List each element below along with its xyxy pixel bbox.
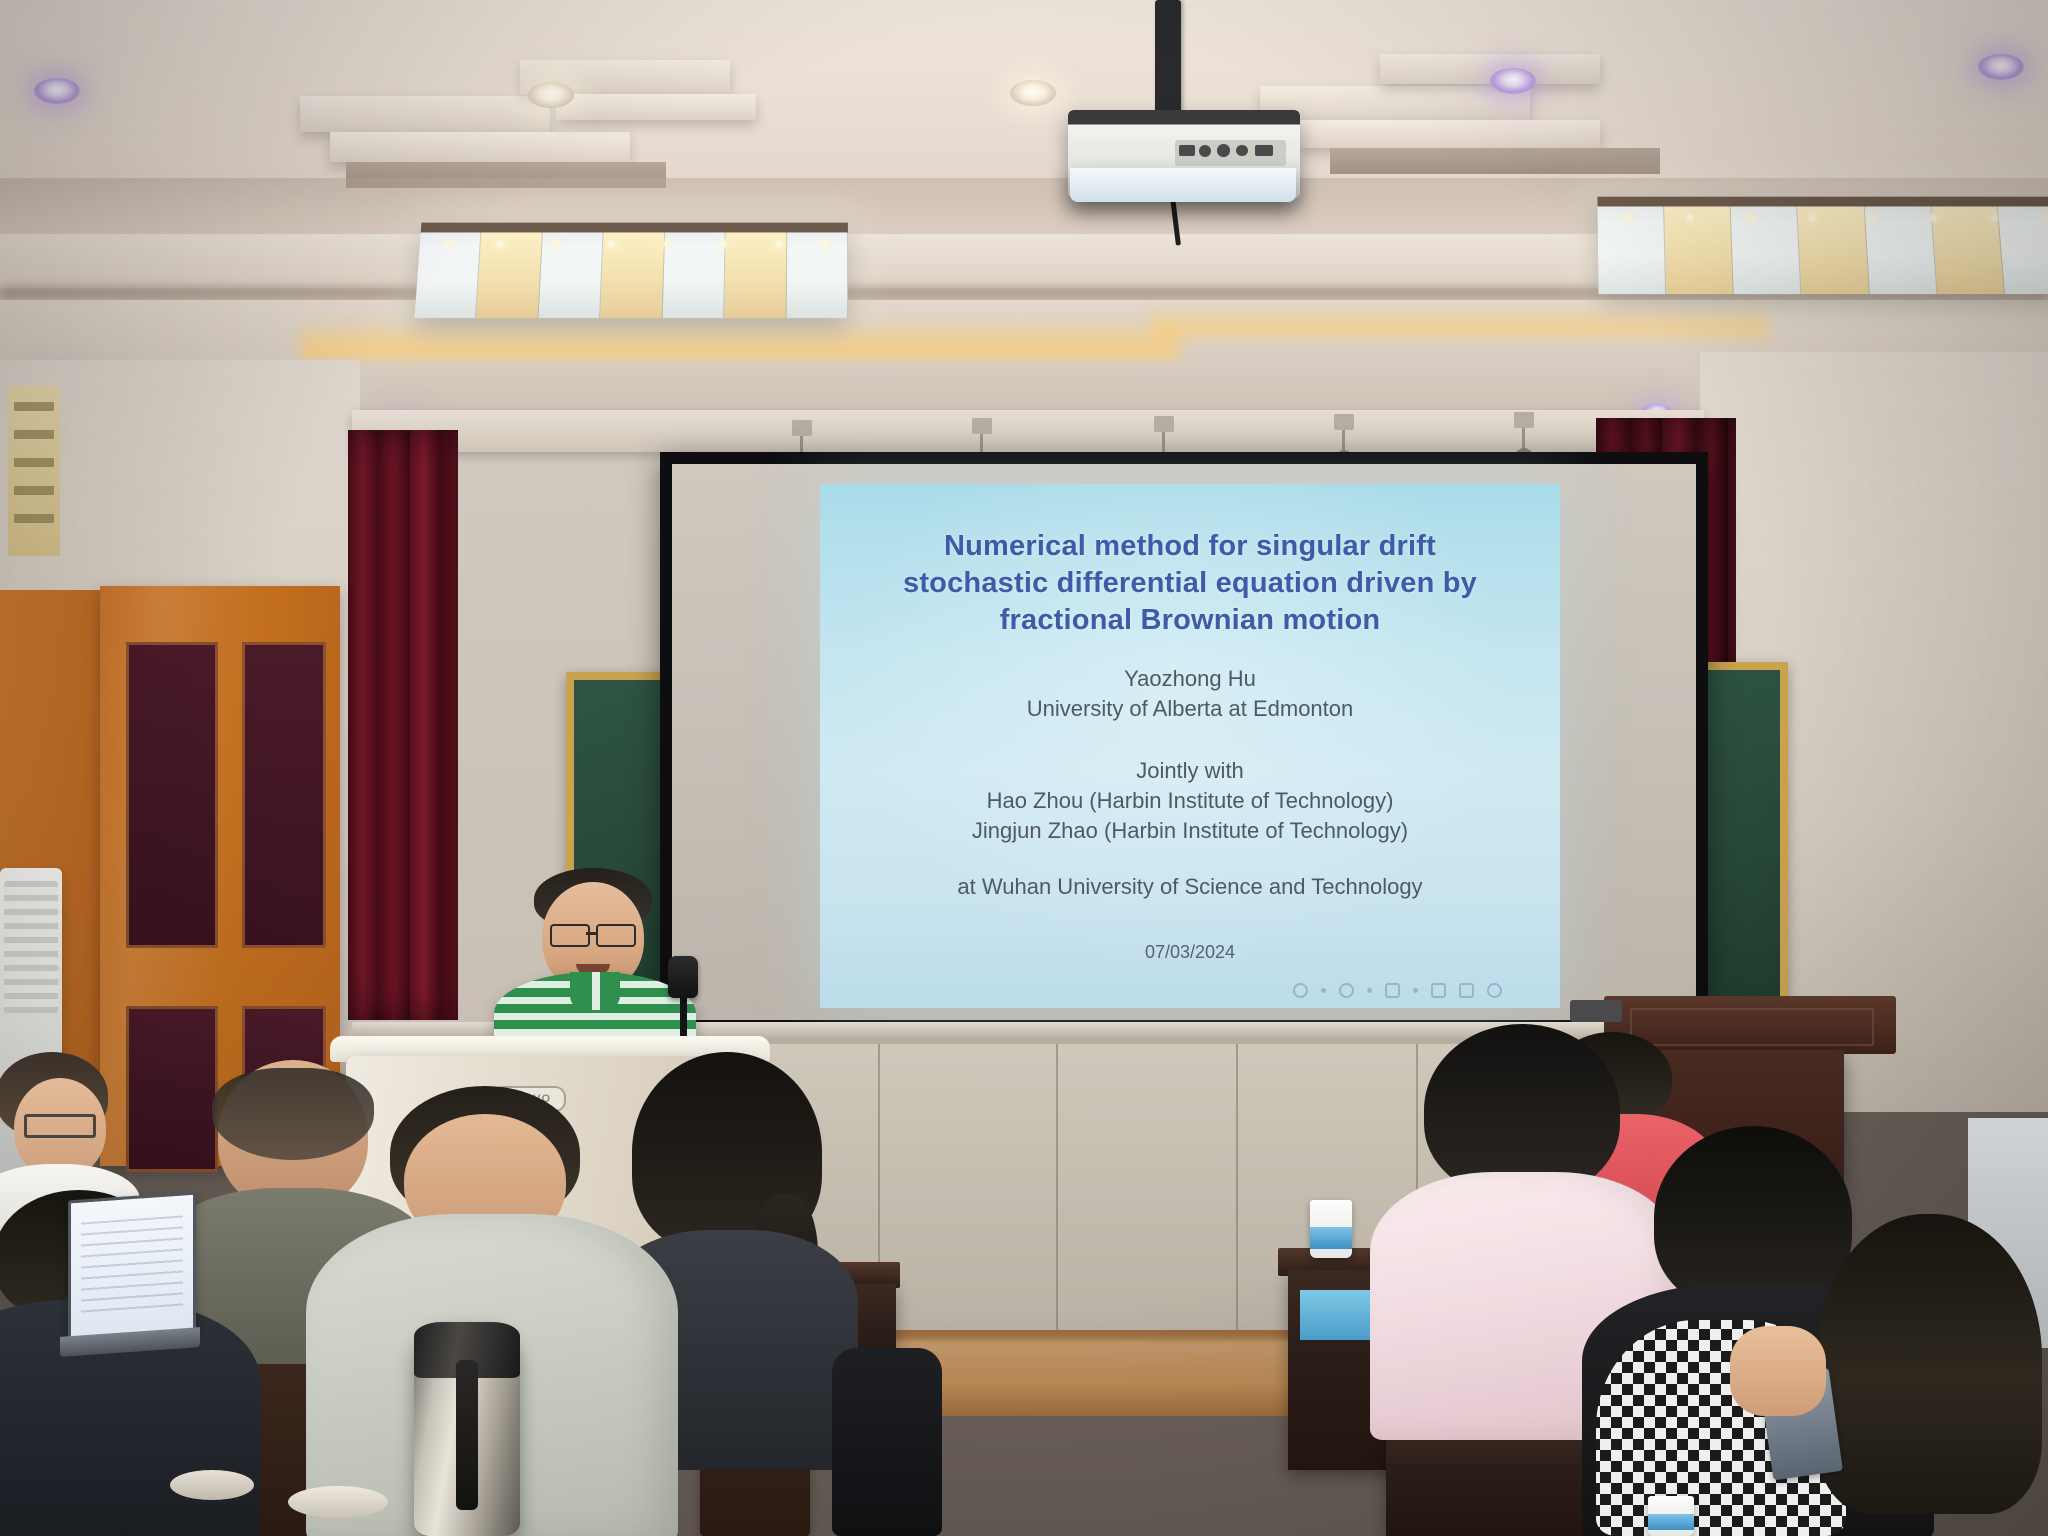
cup-label-band <box>1310 1227 1352 1249</box>
slide-author-affiliation: University of Alberta at Edmonton <box>820 694 1560 724</box>
paper-cup <box>1310 1200 1352 1258</box>
screen-rod-bracket <box>1154 416 1174 432</box>
projector-port-cluster <box>1175 140 1286 166</box>
downlight <box>1978 54 2024 80</box>
stage-curtain-left <box>348 430 458 1020</box>
projector-body-lower <box>1070 168 1296 202</box>
slide-collaborator-2: Jingjun Zhao (Harbin Institute of Techno… <box>820 816 1560 846</box>
slide-jointly-label: Jointly with <box>820 756 1560 786</box>
nav-dot-icon[interactable] <box>1367 988 1372 993</box>
paper-cup <box>1648 1496 1694 1536</box>
presenter <box>500 868 690 1058</box>
slide-author-name: Yaozhong Hu <box>820 664 1560 694</box>
slide-title-line-3: fractional Brownian motion <box>820 602 1560 639</box>
lecture-hall-photo: Numerical method for singular drift stoc… <box>0 0 2048 1536</box>
glasses <box>24 1114 96 1138</box>
ceiling-coffer-shadow <box>1330 148 1660 174</box>
ceiling-light-fixture-left <box>414 223 848 318</box>
ceiling-coffer <box>330 132 630 162</box>
slide-title-line-2: stochastic differential equation driven … <box>820 565 1560 602</box>
nav-dot-icon[interactable] <box>1413 988 1418 993</box>
audience-hair <box>1816 1214 2042 1514</box>
ac-louvers <box>4 881 59 1013</box>
slide-collaborator-1: Hao Zhou (Harbin Institute of Technology… <box>820 786 1560 816</box>
screen-pelmet <box>352 410 1704 452</box>
projector-mount-arm <box>1155 0 1181 120</box>
nav-first-icon[interactable] <box>1293 983 1308 998</box>
audience-hair <box>1424 1024 1620 1196</box>
downlight <box>1010 80 1056 106</box>
cove-light-glow <box>300 316 1180 358</box>
laptop-screen-content <box>81 1215 183 1320</box>
lectern-side-tray <box>1570 1000 1622 1022</box>
cove-light-glow <box>1150 300 1770 338</box>
nav-prev-icon[interactable] <box>1339 983 1354 998</box>
screen-rod-bracket <box>972 418 992 434</box>
backpack <box>832 1348 942 1536</box>
ceiling-coffer <box>300 96 550 132</box>
door-panel <box>242 642 326 948</box>
nav-last-icon[interactable] <box>1487 983 1502 998</box>
microphone <box>668 956 698 998</box>
nav-next-icon[interactable] <box>1459 983 1474 998</box>
slide-collaborators-block: Jointly with Hao Zhou (Harbin Institute … <box>820 756 1560 846</box>
nav-dot-icon[interactable] <box>1321 988 1326 993</box>
stage-panel-seam <box>1236 1044 1238 1340</box>
audience-member-8 <box>1800 1214 2048 1536</box>
cup-label-band <box>1648 1514 1694 1529</box>
presenter-placket <box>592 972 600 1010</box>
downlight <box>1490 68 1536 94</box>
hand <box>1730 1326 1826 1416</box>
ceiling-coffer <box>1300 120 1600 148</box>
projected-slide: Numerical method for singular drift stoc… <box>820 484 1560 1008</box>
screen-rod-bracket <box>1334 414 1354 430</box>
slide-title: Numerical method for singular drift stoc… <box>820 528 1560 639</box>
glasses-bridge <box>586 932 596 935</box>
stage-panel-seam <box>1056 1044 1058 1340</box>
screen-rod-bracket <box>792 420 812 436</box>
slide-date: 07/03/2024 <box>820 942 1560 963</box>
flask-handle <box>456 1360 478 1510</box>
ceiling-coffer <box>1260 86 1530 120</box>
door-panel <box>126 642 218 948</box>
slide-title-line-1: Numerical method for singular drift <box>820 528 1560 565</box>
ceiling-light-fixture-right <box>1597 197 2048 294</box>
foreground-dish <box>288 1486 388 1518</box>
foreground-dish <box>170 1470 254 1500</box>
screen-rod-bracket <box>1514 412 1534 428</box>
glasses-right-lens <box>596 924 636 947</box>
light-dot-row <box>1598 214 2048 224</box>
slide-venue: at Wuhan University of Science and Techn… <box>820 872 1560 902</box>
slide-author-block: Yaozhong Hu University of Alberta at Edm… <box>820 664 1560 724</box>
nav-back-icon[interactable] <box>1385 983 1400 998</box>
slide-navigation-icons[interactable] <box>1293 983 1502 998</box>
downlight <box>528 82 574 108</box>
vacuum-flask <box>414 1322 520 1536</box>
ceiling-coffer <box>556 94 756 120</box>
light-dot-row <box>419 240 848 250</box>
laptop-screen[interactable] <box>68 1192 196 1347</box>
wall-banner <box>8 386 60 556</box>
nav-forward-icon[interactable] <box>1431 983 1446 998</box>
downlight <box>34 78 80 104</box>
glasses-left-lens <box>550 924 590 947</box>
